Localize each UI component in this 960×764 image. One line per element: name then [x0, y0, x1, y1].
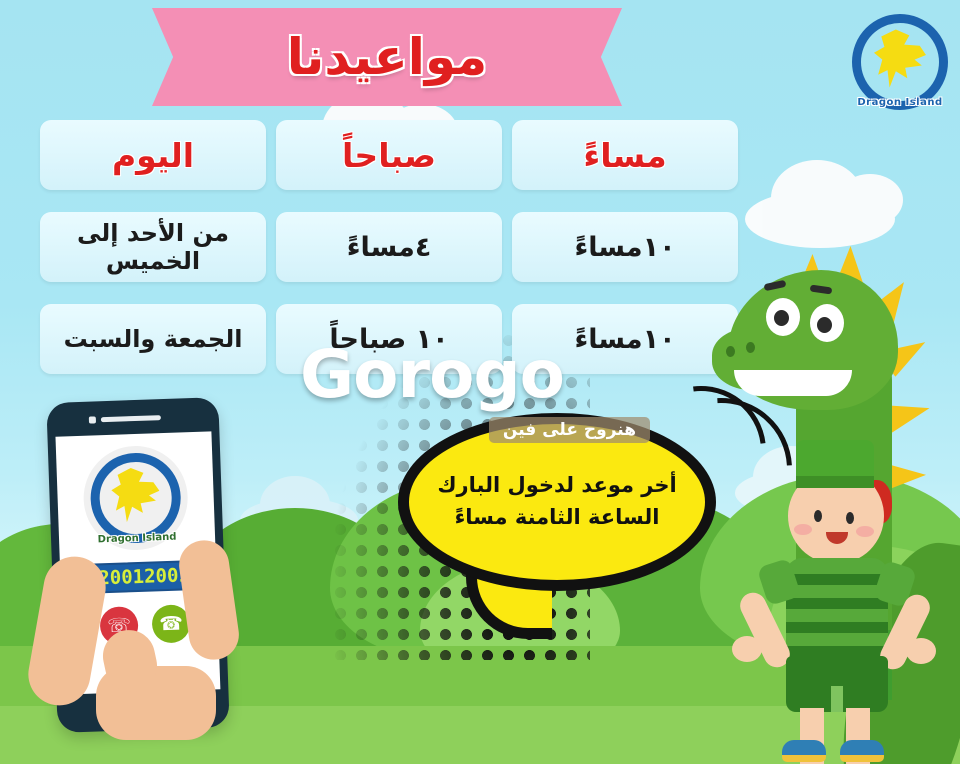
cell-day: من الأحد إلى الخميس — [40, 212, 266, 282]
boy-cheek — [794, 524, 812, 535]
boy-shoe-sole — [840, 755, 884, 762]
column-header-morning: صباحاً — [276, 120, 502, 190]
earpiece-speaker — [101, 415, 161, 422]
bubble-line-1: أخر موعد لدخول البارك — [437, 472, 676, 500]
shirt-stripe — [786, 598, 888, 609]
shirt-stripe — [786, 574, 888, 585]
front-camera-icon — [89, 416, 96, 423]
cell-morning: ٤مساءً — [276, 212, 502, 282]
page-title: مواعيدنا — [182, 8, 592, 106]
dragon-pupil — [774, 310, 789, 326]
boy-shoe-sole — [782, 755, 826, 762]
caller-avatar: Dragon Island — [82, 444, 190, 552]
banner: مواعيدنا — [152, 8, 622, 106]
boy-eye — [814, 510, 822, 522]
dragon-eye — [766, 298, 800, 336]
table-row: ١٠مساءً ٤مساءً من الأحد إلى الخميس — [38, 212, 738, 282]
boy-hand — [906, 638, 936, 664]
boy-cheek — [856, 526, 874, 537]
dragon-eye — [810, 304, 844, 342]
bubble-line-2: الساعة الثامنة مساءً — [455, 504, 660, 532]
boy-shorts-gap — [831, 686, 843, 712]
cell-day: الجمعة والسبت — [40, 304, 266, 374]
dragon-teeth — [734, 370, 852, 396]
dragon-nostril — [726, 346, 735, 357]
boy-eye — [846, 512, 854, 524]
caller-name: Dragon Island — [85, 531, 189, 546]
poster-canvas: مواعيدنا Dragon Island مساءً صباحاً اليو… — [0, 0, 960, 764]
boy-cap-band — [796, 476, 874, 488]
column-header-evening: مساءً — [512, 120, 738, 190]
watermark: Gorogo هنروح على فين — [300, 336, 650, 443]
dragon-nostril — [746, 342, 755, 353]
dragon-island-logo: Dragon Island — [846, 8, 954, 116]
watermark-brand: Gorogo — [300, 336, 650, 413]
logo-label: Dragon Island — [846, 97, 954, 108]
column-header-day: اليوم — [40, 120, 266, 190]
boy-hand — [732, 636, 762, 662]
dragon-pupil — [817, 317, 832, 333]
shirt-stripe — [786, 622, 888, 633]
table-header-row: مساءً صباحاً اليوم — [38, 120, 738, 190]
watermark-tagline: هنروح على فين — [489, 417, 650, 443]
